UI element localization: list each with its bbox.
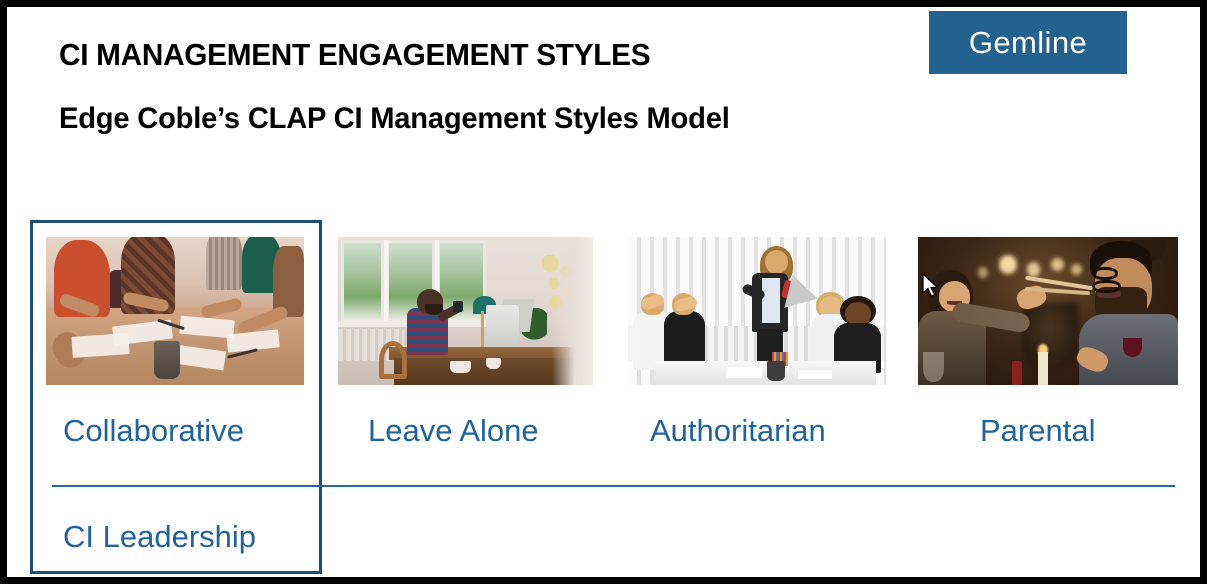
- style-label-parental: Parental: [980, 413, 1178, 449]
- page-subtitle: Edge Coble’s CLAP CI Management Styles M…: [59, 102, 730, 136]
- style-card-parental[interactable]: Parental: [918, 237, 1178, 449]
- page-title: CI MANAGEMENT ENGAGEMENT STYLES: [59, 37, 650, 73]
- style-label-authoritarian: Authoritarian: [650, 413, 886, 449]
- style-card-leave-alone[interactable]: Leave Alone: [338, 237, 593, 449]
- style-label-collaborative: Collaborative: [63, 413, 304, 449]
- style-label-leave-alone: Leave Alone: [368, 413, 593, 449]
- ci-leadership-label: CI Leadership: [63, 519, 256, 555]
- dinner-feeding-photo: [918, 237, 1178, 385]
- section-divider: [52, 485, 1175, 487]
- trademark-icon: ®: [1129, 13, 1136, 23]
- slide-canvas: CI MANAGEMENT ENGAGEMENT STYLES Edge Cob…: [7, 7, 1200, 577]
- style-card-authoritarian[interactable]: Authoritarian: [628, 237, 886, 449]
- logo-text: Gemline: [969, 25, 1087, 61]
- collaboration-photo: [46, 237, 304, 385]
- style-card-collaborative[interactable]: Collaborative: [46, 237, 304, 449]
- gemline-logo: Gemline ®: [929, 11, 1127, 74]
- mouse-pointer-icon: [922, 273, 940, 299]
- home-office-photo: [338, 237, 593, 385]
- megaphone-manager-photo: [628, 237, 886, 385]
